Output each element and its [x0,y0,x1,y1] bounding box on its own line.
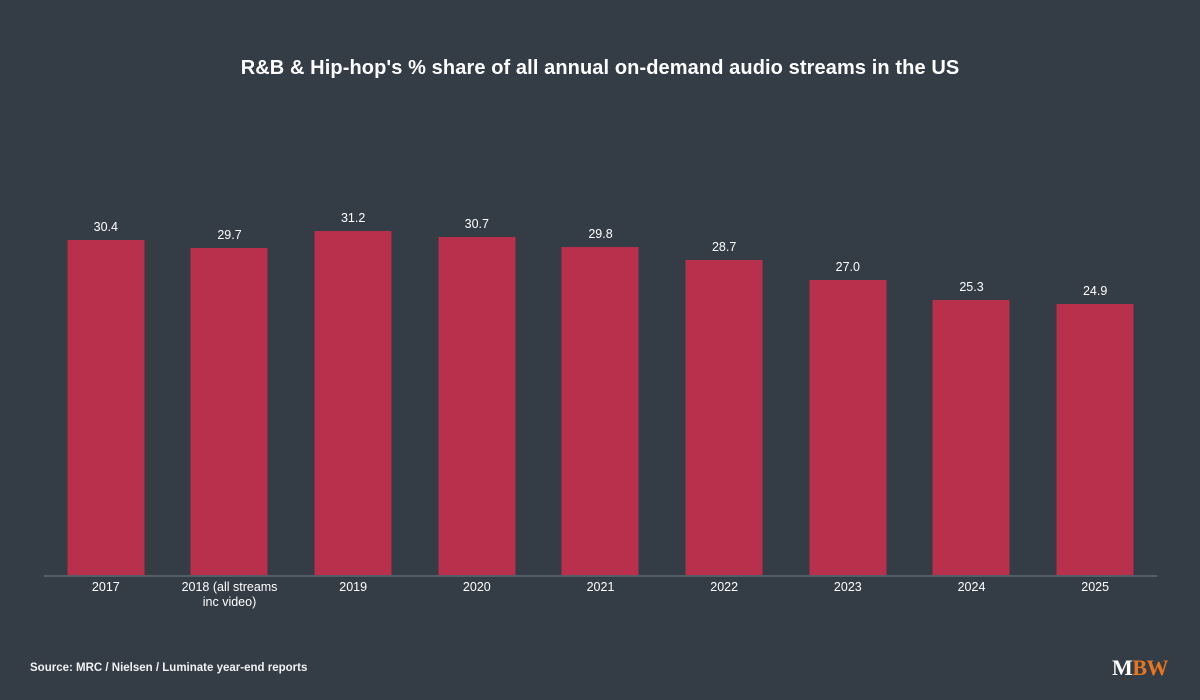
plot-area: 30.429.731.230.729.828.727.025.324.9 [44,110,1157,575]
x-axis-tick-label: 2021 [531,580,671,595]
x-axis-tick-label: 2020 [407,580,547,595]
bar-group: 24.9 [1033,110,1157,575]
bar [315,231,392,575]
x-axis-tick-label: 2025 [1025,580,1165,595]
x-axis-line [44,575,1157,577]
bar [809,280,886,575]
x-axis-tick-label-line: 2019 [283,580,423,595]
bar-group: 29.7 [168,110,292,575]
bar-group: 25.3 [910,110,1034,575]
bar-series: 30.429.731.230.729.828.727.025.324.9 [44,110,1157,575]
chart-figure: R&B & Hip-hop's % share of all annual on… [0,0,1200,700]
bar-value-label: 29.8 [588,227,612,241]
bar-value-label: 30.4 [94,220,118,234]
bar-group: 29.8 [539,110,663,575]
x-axis-tick-label: 2017 [36,580,176,595]
x-axis-tick-label-line: inc video) [160,595,300,610]
bar-value-label: 25.3 [959,280,983,294]
bar-group: 27.0 [786,110,910,575]
bar-value-label: 31.2 [341,211,365,225]
bar-group: 31.2 [291,110,415,575]
chart-title: R&B & Hip-hop's % share of all annual on… [0,57,1200,80]
x-axis-tick-label: 2023 [778,580,918,595]
bar [67,240,144,575]
x-axis-tick-label-line: 2025 [1025,580,1165,595]
bar-group: 30.4 [44,110,168,575]
logo-letter-m: M [1112,655,1132,680]
x-axis-tick-label: 2018 (all streamsinc video) [160,580,300,610]
bar [191,248,268,575]
bar [686,260,763,575]
bar-value-label: 28.7 [712,240,736,254]
bar-value-label: 27.0 [836,260,860,274]
x-axis-tick-label: 2022 [654,580,794,595]
logo-letters-bw: BW [1132,655,1168,680]
bar [438,237,515,575]
x-axis-tick-label: 2019 [283,580,423,595]
x-axis-tick-label-line: 2018 (all streams [160,580,300,595]
bar [933,300,1010,576]
x-axis-tick-label-line: 2017 [36,580,176,595]
source-note: Source: MRC / Nielsen / Luminate year-en… [30,662,307,674]
mbw-logo: MBW [1112,656,1168,680]
x-axis-tick-label: 2024 [902,580,1042,595]
bar-group: 30.7 [415,110,539,575]
bar-value-label: 24.9 [1083,284,1107,298]
x-axis-tick-label-line: 2024 [902,580,1042,595]
x-axis-tick-label-line: 2022 [654,580,794,595]
bar-value-label: 29.7 [217,228,241,242]
x-axis-tick-label-line: 2020 [407,580,547,595]
x-axis-labels: 20172018 (all streamsinc video)201920202… [44,580,1157,628]
bar-value-label: 30.7 [465,217,489,231]
bar-group: 28.7 [662,110,786,575]
bar [562,247,639,575]
x-axis-tick-label-line: 2021 [531,580,671,595]
bar [1057,304,1134,575]
x-axis-tick-label-line: 2023 [778,580,918,595]
